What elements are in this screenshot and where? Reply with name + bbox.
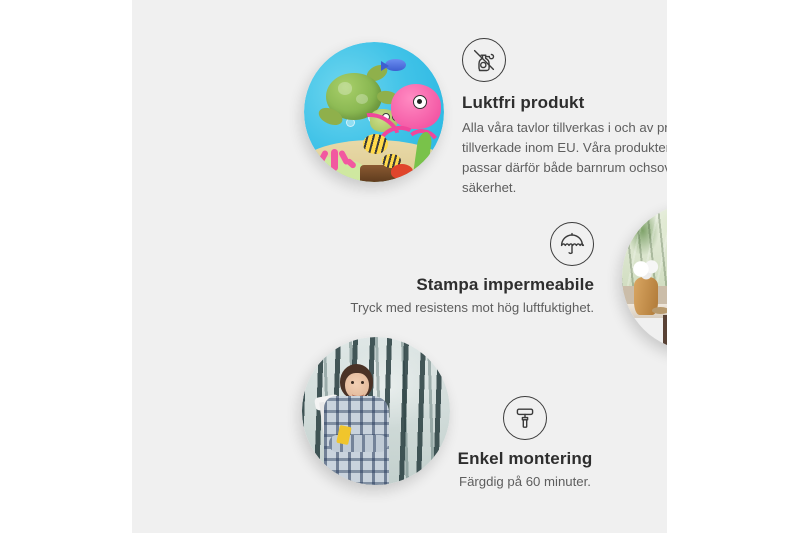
feature-waterproof: Stampa impermeabile Tryck med resistens … <box>332 222 594 318</box>
feature-title: Stampa impermeabile <box>332 275 594 295</box>
feature-description: Färgdig på 60 minuter. <box>400 472 650 492</box>
paint-roller-icon <box>503 396 547 440</box>
no-odour-spray-bottle-icon <box>462 38 506 82</box>
content-panel: Luktfri produkt Alla våra tavlor tillver… <box>132 0 667 533</box>
underwater-cartoon-wallpaper-photo <box>304 42 444 182</box>
umbrella-icon <box>550 222 594 266</box>
decorative-bowl <box>652 307 667 314</box>
bathroom-leaf-wallpaper-photo <box>622 203 667 351</box>
feature-description: Alla våra tavlor tillverkas i och av pro… <box>462 118 667 198</box>
feature-mounting: Enkel montering Färgdig på 60 minuter. <box>400 396 650 492</box>
striped-fish <box>363 134 388 154</box>
feature-description: Tryck med resistens mot hög luftfuktighe… <box>332 298 594 318</box>
feature-title: Enkel montering <box>400 449 650 469</box>
feature-title: Luktfri produkt <box>462 93 667 113</box>
crab <box>391 164 413 179</box>
white-flowers <box>628 256 666 283</box>
product-feature-infographic: Luktfri produkt Alla våra tavlor tillver… <box>0 0 800 533</box>
wood-vanity-cabinet <box>663 315 667 351</box>
feature-odourless: Luktfri produkt Alla våra tavlor tillver… <box>462 38 667 198</box>
pink-coral <box>312 134 354 170</box>
